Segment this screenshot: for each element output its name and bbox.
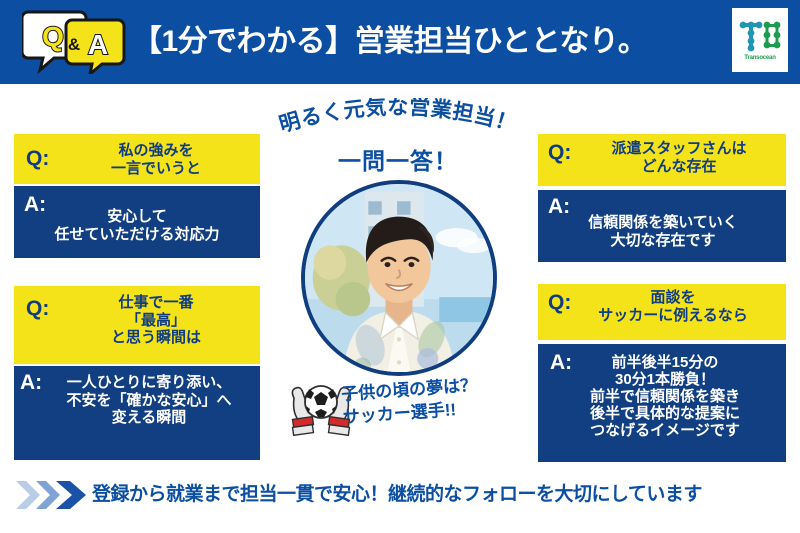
question-label-3: Q: <box>548 142 571 163</box>
question-text-3: 派遣スタッフさんは どんな存在 <box>580 140 778 175</box>
answer-box-3: A: 信頼関係を築いていく 大切な存在です <box>538 190 786 262</box>
answer-box-4: A: 前半後半15分の 30分1本勝負！ 前半で信頼関係を築き 後半で具体的な提… <box>538 344 786 462</box>
answer-text-4: 前半後半15分の 30分1本勝負！ 前半で信頼関係を築き 後半で具体的な提案に … <box>556 354 774 439</box>
logo-wordmark: Transocean <box>744 55 775 61</box>
answer-box-2: A: 一人ひとりに寄り添い、 不安を「確かな安心」へ 変える瞬間 <box>14 366 260 460</box>
portrait-photo <box>301 180 497 376</box>
arched-headline: 明るく元気な営業担当！ <box>248 98 548 144</box>
svg-text:明るく元気な営業担当！: 明るく元気な営業担当！ <box>277 98 520 137</box>
question-box-4: Q: 面談を サッカーに例えるなら <box>538 284 786 340</box>
question-box-3: Q: 派遣スタッフさんは どんな存在 <box>538 134 786 186</box>
transocean-mark-icon <box>738 20 782 54</box>
answer-text-2: 一人ひとりに寄り添い、 不安を「確かな安心」へ 変える瞬間 <box>42 374 256 427</box>
qa-badge-a-letter: A <box>88 29 108 60</box>
company-logo: Transocean <box>732 8 788 72</box>
arched-headline-text: 明るく元気な営業担当！ <box>277 98 520 137</box>
page-title: 【1分でわかる】営業担当ひととなり。 <box>132 14 668 70</box>
qa-badge-q-letter: Q <box>42 21 64 52</box>
qa-speech-bubble-icon: Q & A <box>22 8 126 74</box>
sub-headline: 一問一答！ <box>288 142 508 176</box>
question-label-1: Q: <box>26 148 49 169</box>
answer-text-1: 安心して 任せていただける対応力 <box>20 208 254 243</box>
question-box-1: Q: 私の強みを 一言でいうと <box>14 134 260 184</box>
question-label-2: Q: <box>26 298 49 319</box>
infographic-page: Q & A 【1分でわかる】営業担当ひととなり。 <box>0 0 800 533</box>
question-text-1: 私の強みを 一言でいうと <box>58 142 254 177</box>
qa-badge-amp: & <box>68 35 80 54</box>
answer-text-3: 信頼関係を築いていく 大切な存在です <box>552 214 774 249</box>
double-chevron-right-icon <box>14 478 92 512</box>
question-text-2: 仕事で一番 「最高」 と思う瞬間は <box>58 294 254 347</box>
question-box-2: Q: 仕事で一番 「最高」 と思う瞬間は <box>14 286 260 364</box>
answer-box-1: A: 安心して 任せていただける対応力 <box>14 186 260 258</box>
footer-message: 登録から就業まで担当一貫で安心！継続的なフォローを大切にしています <box>92 478 792 512</box>
question-text-4: 面談を サッカーに例えるなら <box>568 289 778 324</box>
answer-label-2: A: <box>20 372 42 393</box>
ball-caption: 子供の頃の夢は？ サッカー選手!! <box>341 372 516 430</box>
